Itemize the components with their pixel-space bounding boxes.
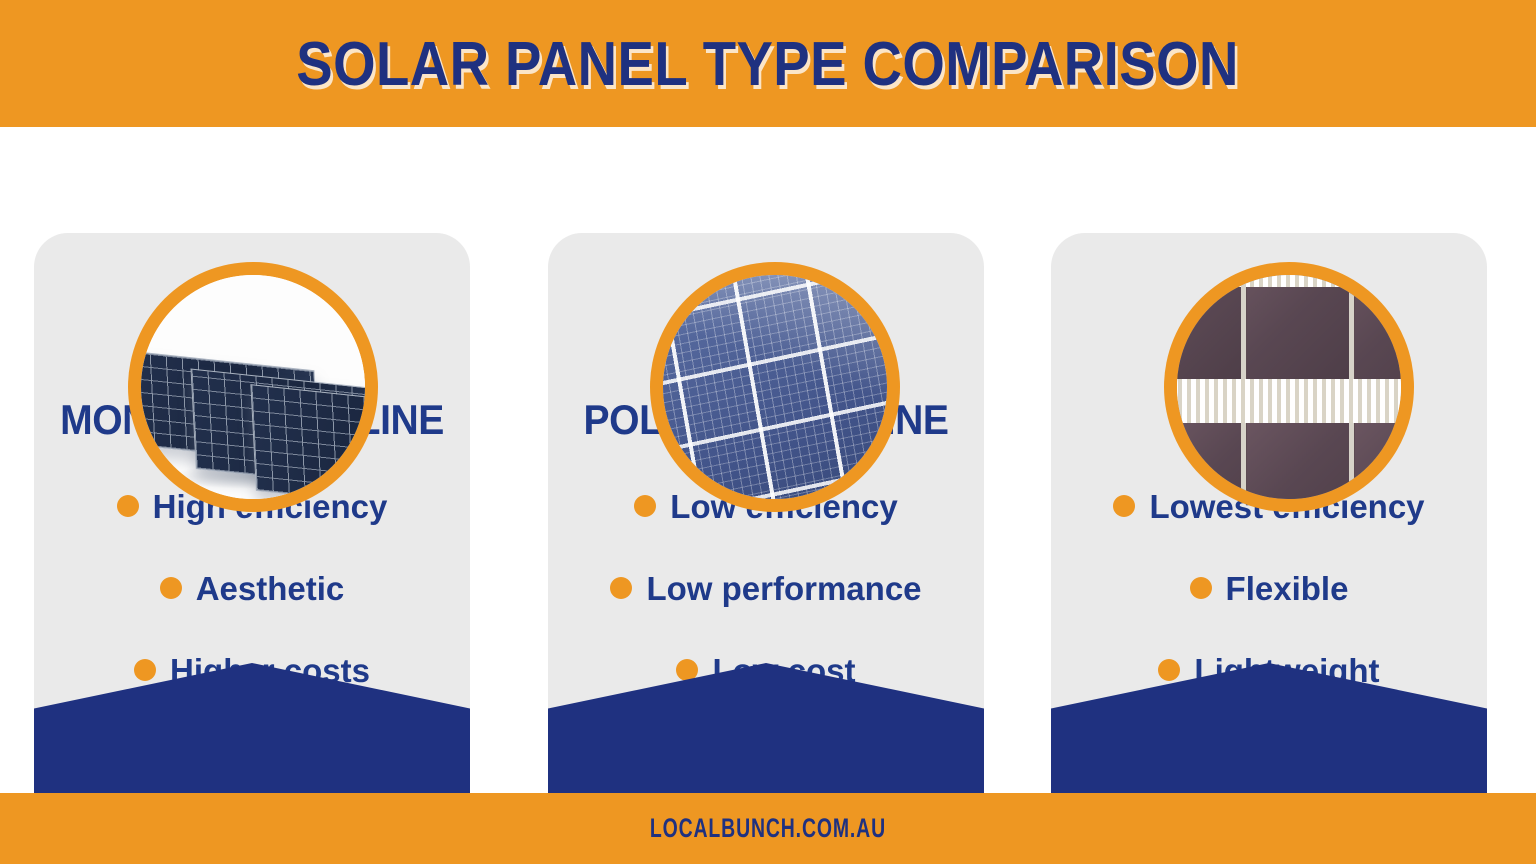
website-url[interactable]: LOCALBUNCH.COM.AU bbox=[650, 815, 886, 842]
thin-film-cell bbox=[1355, 275, 1401, 379]
photo-sheen bbox=[663, 275, 887, 499]
monocrystalline-panel-photo bbox=[128, 262, 378, 512]
cell-seam bbox=[1241, 275, 1246, 379]
thin-film-cell bbox=[1247, 275, 1351, 379]
cell-seam bbox=[1349, 275, 1354, 379]
bullet-dot-icon bbox=[634, 495, 656, 517]
page-title: SOLAR PANEL TYPE COMPARISON bbox=[297, 34, 1240, 96]
feature-label: Flexible bbox=[1226, 572, 1349, 605]
list-item: Flexible bbox=[1051, 547, 1487, 629]
list-item: Aesthetic bbox=[34, 547, 470, 629]
bullet-dot-icon bbox=[676, 659, 698, 681]
list-item: Low performance bbox=[548, 547, 984, 629]
cell-seam bbox=[1349, 423, 1354, 499]
bullet-dot-icon bbox=[610, 577, 632, 599]
bullet-dot-icon bbox=[117, 495, 139, 517]
bullet-dot-icon bbox=[160, 577, 182, 599]
feature-label: Low performance bbox=[646, 572, 921, 605]
bullet-dot-icon bbox=[1158, 659, 1180, 681]
polycrystalline-panel-photo bbox=[650, 262, 900, 512]
photo-frame bbox=[1177, 275, 1401, 499]
thin-film-panel-photo bbox=[1164, 262, 1414, 512]
cell-seam bbox=[1241, 423, 1246, 499]
bullet-dot-icon bbox=[134, 659, 156, 681]
bullet-dot-icon bbox=[1190, 577, 1212, 599]
thin-film-ribbed-strip bbox=[1177, 275, 1401, 287]
feature-label: Aesthetic bbox=[196, 572, 345, 605]
thin-film-cell bbox=[1355, 423, 1401, 499]
solar-panel-row bbox=[250, 384, 365, 499]
thin-film-cell bbox=[1177, 423, 1243, 499]
photo-frame bbox=[141, 275, 365, 499]
thin-film-cell bbox=[1247, 423, 1351, 499]
footer-bar: LOCALBUNCH.COM.AU bbox=[0, 793, 1536, 864]
thin-film-ribbed-strip bbox=[1177, 379, 1401, 423]
title-banner: SOLAR PANEL TYPE COMPARISON bbox=[0, 0, 1536, 127]
bullet-dot-icon bbox=[1113, 495, 1135, 517]
comparison-board: MONOCRYSTALLINE High efficiency Aestheti… bbox=[0, 127, 1536, 793]
thin-film-cell bbox=[1177, 275, 1243, 379]
photo-frame bbox=[663, 275, 887, 499]
